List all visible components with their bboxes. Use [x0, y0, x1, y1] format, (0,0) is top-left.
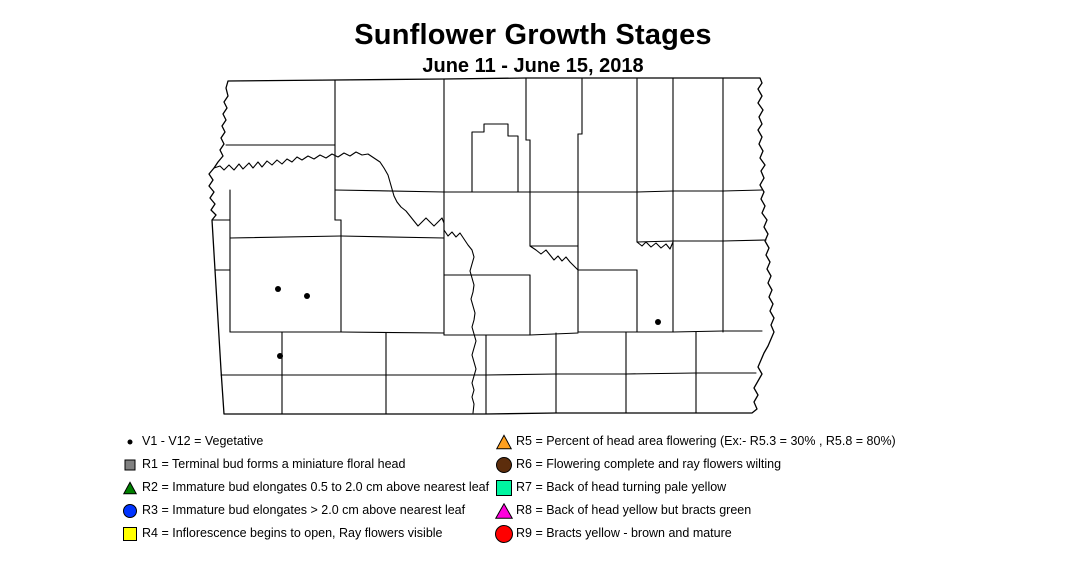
legend-item-r1[interactable]: R1 = Terminal bud forms a miniature flor…	[118, 453, 498, 476]
triangle-marker	[492, 499, 516, 522]
legend-label: R6 = Flowering complete and ray flowers …	[516, 457, 781, 472]
legend-label: R4 = Inflorescence begins to open, Ray f…	[142, 526, 443, 541]
legend-label: R3 = Immature bud elongates > 2.0 cm abo…	[142, 503, 465, 518]
title-block: Sunflower Growth Stages June 11 - June 1…	[0, 18, 1066, 78]
legend-item-r5[interactable]: R5 = Percent of head area flowering (Ex:…	[492, 430, 962, 453]
triangle-marker	[118, 476, 142, 499]
county-boundaries	[209, 78, 774, 414]
square-marker	[118, 522, 142, 545]
map-data-point[interactable]	[275, 286, 281, 292]
circle-marker	[492, 522, 516, 545]
circle-marker	[492, 453, 516, 476]
map-data-point[interactable]	[304, 293, 310, 299]
legend-label: V1 - V12 = Vegetative	[142, 434, 263, 449]
page-title: Sunflower Growth Stages	[0, 18, 1066, 52]
legend-item-r6[interactable]: R6 = Flowering complete and ray flowers …	[492, 453, 962, 476]
square-marker	[118, 453, 142, 476]
north-dakota-county-map[interactable]	[196, 70, 776, 425]
legend-left-column: V1 - V12 = Vegetative R1 = Terminal bud …	[118, 430, 498, 545]
legend-item-r3[interactable]: R3 = Immature bud elongates > 2.0 cm abo…	[118, 499, 498, 522]
triangle-marker	[492, 430, 516, 453]
triangle-icon	[495, 503, 513, 519]
map-data-point[interactable]	[277, 353, 283, 359]
legend-label: R9 = Bracts yellow - brown and mature	[516, 526, 732, 541]
circle-marker	[118, 499, 142, 522]
map-data-point[interactable]	[655, 319, 661, 325]
legend-right-column: R5 = Percent of head area flowering (Ex:…	[492, 430, 962, 545]
legend-label: R7 = Back of head turning pale yellow	[516, 480, 726, 495]
triangle-icon	[123, 481, 137, 494]
dot-marker	[118, 430, 142, 453]
legend-label: R5 = Percent of head area flowering (Ex:…	[516, 434, 896, 449]
triangle-icon	[496, 434, 512, 449]
legend-item-r7[interactable]: R7 = Back of head turning pale yellow	[492, 476, 962, 499]
legend-item-r4[interactable]: R4 = Inflorescence begins to open, Ray f…	[118, 522, 498, 545]
legend-item-v[interactable]: V1 - V12 = Vegetative	[118, 430, 498, 453]
legend-label: R8 = Back of head yellow but bracts gree…	[516, 503, 751, 518]
legend-label: R2 = Immature bud elongates 0.5 to 2.0 c…	[142, 480, 489, 495]
legend-item-r9[interactable]: R9 = Bracts yellow - brown and mature	[492, 522, 962, 545]
map-svg	[196, 70, 776, 425]
legend-item-r2[interactable]: R2 = Immature bud elongates 0.5 to 2.0 c…	[118, 476, 498, 499]
legend-label: R1 = Terminal bud forms a miniature flor…	[142, 457, 405, 472]
square-marker	[492, 476, 516, 499]
legend-item-r8[interactable]: R8 = Back of head yellow but bracts gree…	[492, 499, 962, 522]
state-outline	[209, 78, 774, 414]
